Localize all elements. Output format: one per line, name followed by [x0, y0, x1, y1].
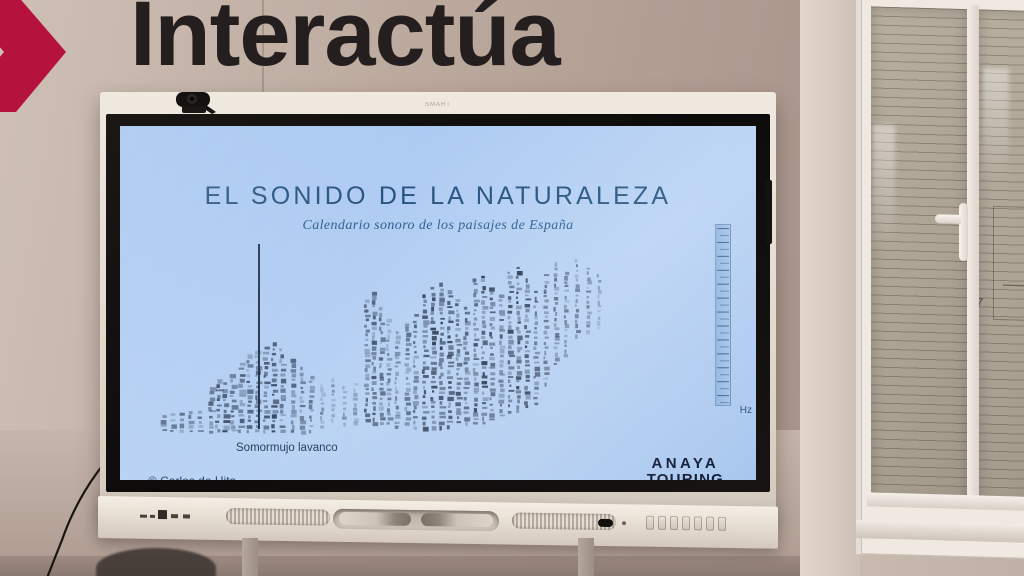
presentation-slide: EL SONIDO DE LA NATURALEZA Calendario so…: [120, 126, 756, 480]
photo-credit: © Carlos de Hita: [148, 474, 236, 480]
spectrogram-playhead[interactable]: [258, 244, 260, 429]
publisher-name-line2: TOURING: [647, 472, 724, 480]
wall-pillar: [800, 0, 860, 576]
frequency-unit-label: Hz: [740, 405, 752, 416]
pen-tray-icon[interactable]: [333, 509, 499, 532]
display-brand-mark: SMART: [425, 102, 451, 108]
stand-leg-right: [578, 538, 594, 576]
control-button-row[interactable]: [646, 516, 726, 531]
chevron-arrow-icon: [0, 0, 82, 118]
control-key-1-button[interactable]: [646, 516, 654, 530]
spectrogram-chart: [156, 238, 616, 438]
control-key-5-button[interactable]: [694, 516, 702, 530]
window-pane-left: [871, 6, 967, 505]
control-key-7-button[interactable]: [718, 517, 726, 531]
room-scene: Interactúa 7 SMART: [0, 0, 1024, 576]
window-blind: [871, 6, 967, 505]
speaker-grille-icon: [226, 508, 330, 526]
window-sign-number: 7: [979, 295, 983, 312]
control-key-3-button[interactable]: [670, 516, 678, 530]
brand-dash-logo-icon: [140, 510, 202, 523]
arrow-sign-icon: [1001, 274, 1024, 297]
window-glare: [983, 68, 1009, 179]
power-ir-icon[interactable]: [598, 519, 613, 527]
display-screen[interactable]: EL SONIDO DE LA NATURALEZA Calendario so…: [120, 126, 756, 480]
stand-leg-left: [242, 538, 258, 576]
frequency-ruler-ticks: [716, 225, 730, 405]
spectrogram-caption: Somormujo lavanco: [236, 442, 338, 454]
control-key-6-button[interactable]: [706, 517, 714, 531]
side-connector-tab: [766, 180, 772, 244]
frequency-ruler: [715, 224, 731, 406]
control-key-2-button[interactable]: [658, 516, 666, 530]
stylus-pen-icon[interactable]: [339, 512, 411, 526]
control-key-4-button[interactable]: [682, 516, 690, 530]
publisher-logo: ANAYA TOURING: [647, 456, 724, 480]
slide-subtitle: Calendario sonoro de los paisajes de Esp…: [120, 218, 756, 234]
window-handle-arm-icon[interactable]: [935, 214, 961, 224]
window-sign-placard: [993, 206, 1024, 322]
window-mullion-horizontal: [867, 492, 1024, 511]
window-frame: 7: [856, 0, 1024, 559]
webcam-icon: [172, 88, 222, 116]
window-handle-icon[interactable]: [959, 203, 968, 261]
publisher-name-line1: ANAYA: [647, 456, 724, 472]
window-mullion-vertical: [967, 5, 979, 509]
slide-title: EL SONIDO DE LA NATURALEZA: [120, 182, 756, 211]
interactive-flat-panel[interactable]: SMART EL SONIDO DE LA NATURALEZA Calenda…: [100, 92, 776, 544]
room-signage-text: Interactúa: [130, 0, 560, 80]
status-led-icon: [622, 521, 626, 525]
window-glare: [873, 124, 895, 245]
stylus-pen-icon[interactable]: [421, 513, 493, 527]
